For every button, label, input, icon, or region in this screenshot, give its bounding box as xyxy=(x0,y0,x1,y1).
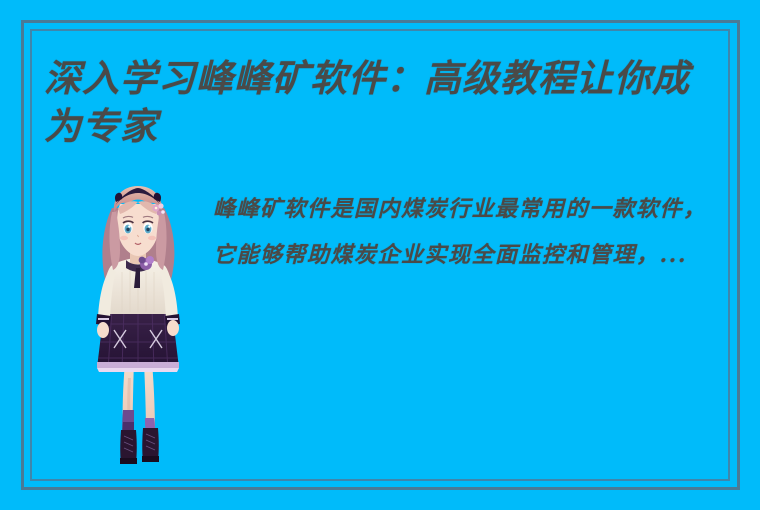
page-title: 深入学习峰峰矿软件：高级教程让你成为专家 xyxy=(44,54,724,150)
article-excerpt: 峰峰矿软件是国内煤炭行业最常用的一款软件，它能够帮助煤炭企业实现全面监控和管理，… xyxy=(213,186,725,278)
hand-right xyxy=(167,320,179,336)
article-card: 深入学习峰峰矿软件：高级教程让你成为专家 xyxy=(0,0,760,510)
hand-left xyxy=(97,322,109,338)
anime-girl-illustration xyxy=(78,172,198,472)
boots xyxy=(120,428,159,464)
